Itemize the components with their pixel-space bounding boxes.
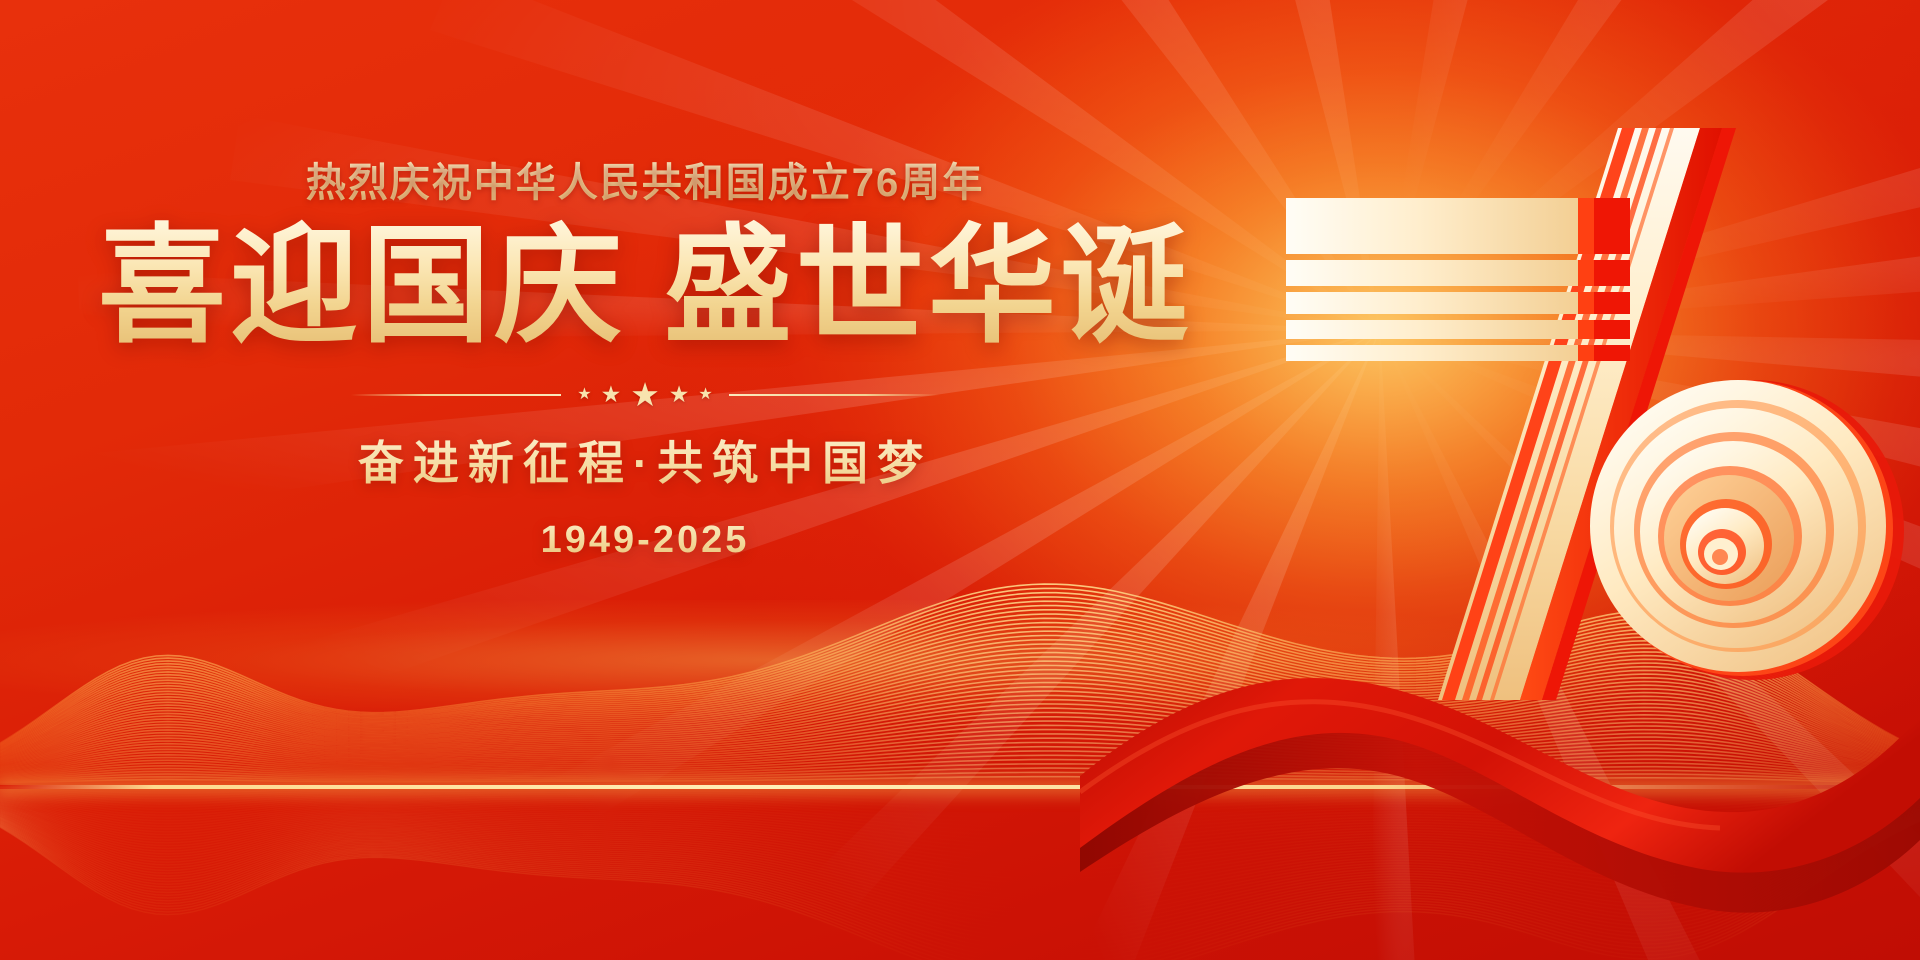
- divider-rule-right: [729, 394, 939, 396]
- eyebrow-text: 热烈庆祝中华人民共和国成立76周年: [0, 150, 1290, 208]
- divider-stars: ★ ★ ★ ★ ★: [577, 378, 713, 411]
- national-day-banner: 热烈庆祝中华人民共和国成立76周年 喜迎国庆盛世华诞 ★ ★ ★ ★ ★ 奋进新…: [0, 0, 1920, 960]
- main-title-part2: 盛世华诞: [664, 215, 1192, 358]
- bottom-stripe-decor: [1230, 780, 1920, 960]
- year-range-text: 1949-2025: [0, 519, 1290, 562]
- star-icon-3: ★: [630, 378, 660, 411]
- main-title: 喜迎国庆盛世华诞: [0, 218, 1290, 356]
- tagline-text: 奋进新征程·共筑中国梦: [0, 427, 1290, 493]
- horizon-line: [0, 785, 1920, 789]
- star-icon-5: ★: [698, 387, 712, 403]
- star-divider: ★ ★ ★ ★ ★: [0, 378, 1290, 411]
- star-icon-2: ★: [601, 383, 622, 406]
- numeral-76-graphic: [1270, 100, 1920, 740]
- headline-block: 热烈庆祝中华人民共和国成立76周年 喜迎国庆盛世华诞 ★ ★ ★ ★ ★ 奋进新…: [0, 150, 1290, 562]
- divider-rule-left: [351, 394, 561, 396]
- seven-horizontal-bars: [1286, 198, 1630, 361]
- main-title-part1: 喜迎国庆: [98, 215, 626, 358]
- star-icon-1: ★: [577, 387, 591, 403]
- star-icon-4: ★: [669, 383, 690, 406]
